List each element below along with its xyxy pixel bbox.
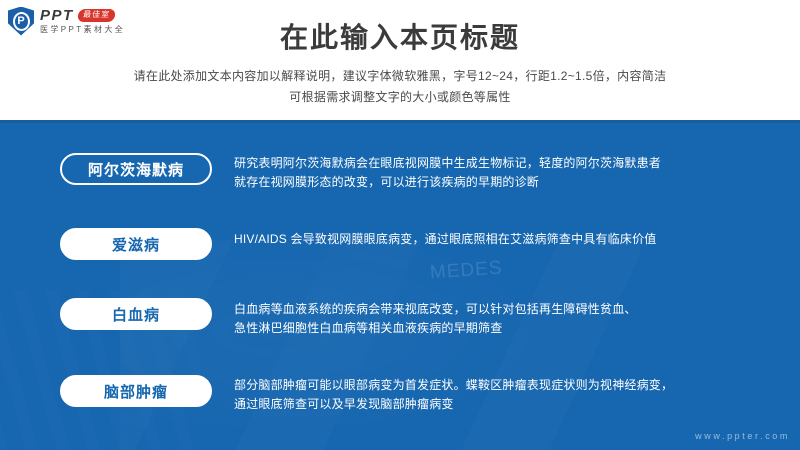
- disease-pill-label-2: 白血病: [112, 304, 160, 325]
- desc-line-1: HIV/AIDS 会导致视网膜眼底病变，通过眼底照相在艾滋病筛查中具有临床价值: [234, 230, 656, 249]
- disease-description-2: 白血病等血液系统的疾病会带来视底改变，可以针对包括再生障碍性贫血、 急性淋巴细胞…: [234, 298, 637, 338]
- disease-pill-1[interactable]: 爱滋病: [60, 228, 212, 260]
- list-item[interactable]: 阿尔茨海默病 研究表明阿尔茨海默病会在眼底视网膜中生成生物标记，轻度的阿尔茨海默…: [60, 153, 800, 192]
- desc-line-2: 急性淋巴细胞性白血病等相关血液疾病的早期筛查: [234, 319, 637, 338]
- desc-line-1: 白血病等血液系统的疾病会带来视底改变，可以针对包括再生障碍性贫血、: [234, 300, 637, 319]
- disease-pill-label-0: 阿尔茨海默病: [88, 159, 184, 180]
- subtitle-line-1: 请在此处添加文本内容加以解释说明，建议字体微软雅黑，字号12~24，行距1.2~…: [0, 66, 800, 87]
- desc-line-2: 就存在视网膜形态的改变，可以进行该疾病的早期的诊断: [234, 173, 661, 192]
- site-watermark: www.ppter.com: [695, 431, 790, 441]
- disease-list: 阿尔茨海默病 研究表明阿尔茨海默病会在眼底视网膜中生成生物标记，轻度的阿尔茨海默…: [0, 120, 800, 450]
- desc-line-1: 研究表明阿尔茨海默病会在眼底视网膜中生成生物标记，轻度的阿尔茨海默患者: [234, 154, 661, 173]
- disease-description-0: 研究表明阿尔茨海默病会在眼底视网膜中生成生物标记，轻度的阿尔茨海默患者 就存在视…: [234, 153, 661, 192]
- subtitle-line-2: 可根据需求调整文字的大小或颜色等属性: [0, 87, 800, 108]
- disease-description-1: HIV/AIDS 会导致视网膜眼底病变，通过眼底照相在艾滋病筛查中具有临床价值: [234, 228, 656, 249]
- desc-line-2: 通过眼底筛查可以及早发现脑部肿瘤病变: [234, 395, 673, 414]
- content-panel: Losepraz ol 20 mg omeprazole hard capsul…: [0, 120, 800, 450]
- page-title: 在此输入本页标题: [0, 16, 800, 56]
- slide: P PPT 最佳室 医学PPT素材大全 在此输入本页标题 请在此处添加文本内容加…: [0, 0, 800, 450]
- disease-pill-label-1: 爱滋病: [112, 234, 160, 255]
- disease-pill-3[interactable]: 脑部肿瘤: [60, 375, 212, 407]
- disease-pill-label-3: 脑部肿瘤: [104, 381, 168, 402]
- list-item[interactable]: 白血病 白血病等血液系统的疾病会带来视底改变，可以针对包括再生障碍性贫血、 急性…: [60, 298, 800, 338]
- disease-pill-0[interactable]: 阿尔茨海默病: [60, 153, 212, 185]
- list-item[interactable]: 爱滋病 HIV/AIDS 会导致视网膜眼底病变，通过眼底照相在艾滋病筛查中具有临…: [60, 228, 800, 260]
- list-item[interactable]: 脑部肿瘤 部分脑部肿瘤可能以眼部病变为首发症状。蝶鞍区肿瘤表现症状则为视神经病变…: [60, 375, 800, 414]
- disease-pill-2[interactable]: 白血病: [60, 298, 212, 330]
- disease-description-3: 部分脑部肿瘤可能以眼部病变为首发症状。蝶鞍区肿瘤表现症状则为视神经病变， 通过眼…: [234, 375, 673, 414]
- desc-line-1: 部分脑部肿瘤可能以眼部病变为首发症状。蝶鞍区肿瘤表现症状则为视神经病变，: [234, 376, 673, 395]
- page-subtitle: 请在此处添加文本内容加以解释说明，建议字体微软雅黑，字号12~24，行距1.2~…: [0, 66, 800, 108]
